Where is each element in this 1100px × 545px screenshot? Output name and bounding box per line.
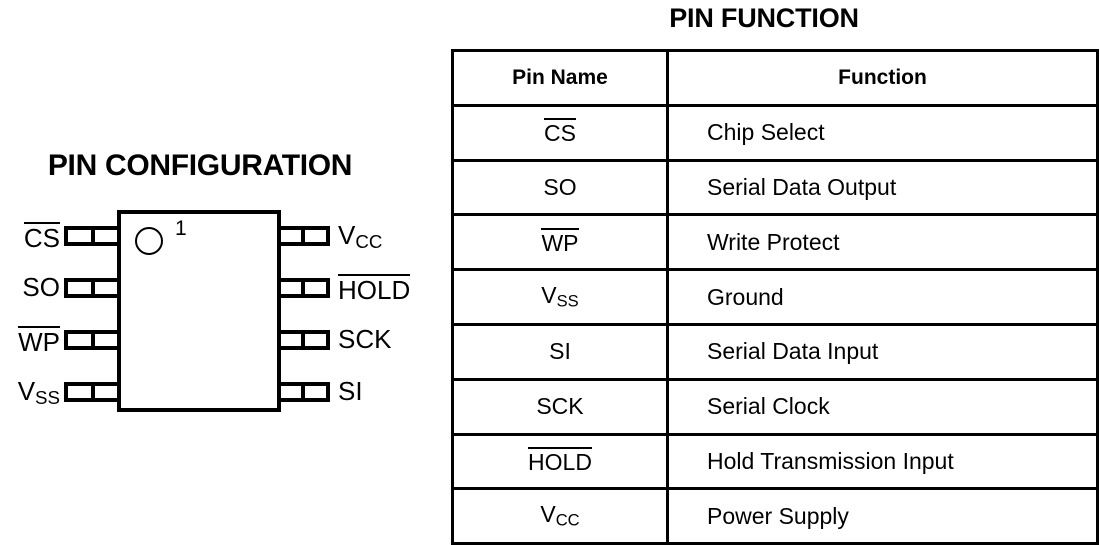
table-row: HOLDHold Transmission Input bbox=[453, 434, 1098, 489]
pin1-number-label: 1 bbox=[175, 218, 187, 239]
pin-label-right-1-subscript: CC bbox=[355, 231, 382, 252]
table-row: WPWrite Protect bbox=[453, 215, 1098, 270]
pin-label-right-1-text: V bbox=[338, 220, 355, 250]
table-row: CSChip Select bbox=[453, 105, 1098, 160]
package-body: 1 bbox=[117, 210, 281, 412]
cell-function: Serial Data Output bbox=[668, 160, 1098, 215]
cell-pin-name: CS bbox=[453, 105, 668, 160]
cell-function: Hold Transmission Input bbox=[668, 434, 1098, 489]
cell-pin-name: SO bbox=[453, 160, 668, 215]
pin-name-text: SCK bbox=[536, 393, 583, 419]
cell-function: Serial Clock bbox=[668, 379, 1098, 434]
pin-name-text: HOLD bbox=[528, 447, 592, 474]
table-row: SOSerial Data Output bbox=[453, 160, 1098, 215]
pin-function-title: PIN FUNCTION bbox=[440, 3, 1088, 34]
lead-left-4 bbox=[64, 382, 122, 402]
pin-function-section: PIN FUNCTION Pin Name Function CSChip Se… bbox=[440, 0, 1100, 521]
pin-label-left-3-text: WP bbox=[18, 326, 60, 356]
column-header-function: Function bbox=[668, 51, 1098, 106]
pin-name-text: SI bbox=[549, 338, 571, 364]
pin-label-right-2: HOLD bbox=[338, 274, 410, 304]
cell-pin-name: HOLD bbox=[453, 434, 668, 489]
pin-function-table: Pin Name Function CSChip SelectSOSerial … bbox=[451, 49, 1099, 545]
cell-function: Write Protect bbox=[668, 215, 1098, 270]
pin-name-text: SO bbox=[543, 174, 576, 200]
pin-name-text: WP bbox=[541, 228, 578, 255]
pin-name-text: V bbox=[540, 501, 555, 527]
pin-label-left-4: VSS bbox=[18, 378, 60, 408]
lead-right-2 bbox=[276, 278, 330, 298]
pin-label-left-1-text: CS bbox=[24, 222, 60, 252]
lead-left-2 bbox=[64, 278, 122, 298]
cell-pin-name: WP bbox=[453, 215, 668, 270]
pin-label-left-4-subscript: SS bbox=[35, 387, 60, 408]
table-row: VSSGround bbox=[453, 270, 1098, 325]
cell-function: Serial Data Input bbox=[668, 324, 1098, 379]
pin-name-subscript: SS bbox=[557, 292, 579, 311]
pin-label-left-3: WP bbox=[18, 326, 60, 356]
column-header-pin-name: Pin Name bbox=[453, 51, 668, 106]
pin-configuration-section: PIN CONFIGURATION 1 CS SO WP VSS VCC HOL… bbox=[0, 0, 440, 521]
pin-label-left-2-text: SO bbox=[22, 272, 60, 302]
cell-function: Chip Select bbox=[668, 105, 1098, 160]
cell-pin-name: VCC bbox=[453, 489, 668, 544]
cell-pin-name: VSS bbox=[453, 270, 668, 325]
pin-label-left-4-text: V bbox=[18, 376, 35, 406]
lead-right-1 bbox=[276, 226, 330, 246]
lead-right-3 bbox=[276, 330, 330, 350]
cell-pin-name: SI bbox=[453, 324, 668, 379]
cell-pin-name: SCK bbox=[453, 379, 668, 434]
lead-right-4 bbox=[276, 382, 330, 402]
table-row: SCKSerial Clock bbox=[453, 379, 1098, 434]
table-body: CSChip SelectSOSerial Data OutputWPWrite… bbox=[453, 105, 1098, 543]
pin-label-right-3: SCK bbox=[338, 326, 391, 352]
pin-label-right-4: SI bbox=[338, 378, 363, 404]
pin-label-left-1: CS bbox=[24, 222, 60, 252]
pin-configuration-title: PIN CONFIGURATION bbox=[0, 149, 400, 183]
pin-label-left-2: SO bbox=[22, 274, 60, 300]
pin-label-right-1: VCC bbox=[338, 222, 382, 252]
cell-function: Power Supply bbox=[668, 489, 1098, 544]
pin1-dot-icon bbox=[135, 227, 163, 255]
pin-name-text: V bbox=[541, 282, 556, 308]
table-header-row: Pin Name Function bbox=[453, 51, 1098, 106]
lead-left-3 bbox=[64, 330, 122, 350]
table-row: VCCPower Supply bbox=[453, 489, 1098, 544]
table-row: SISerial Data Input bbox=[453, 324, 1098, 379]
lead-left-1 bbox=[64, 226, 122, 246]
pin-label-right-4-text: SI bbox=[338, 376, 363, 406]
cell-function: Ground bbox=[668, 270, 1098, 325]
pin-label-right-3-text: SCK bbox=[338, 324, 391, 354]
pin-name-text: CS bbox=[544, 118, 576, 145]
pin-label-right-2-text: HOLD bbox=[338, 274, 410, 304]
